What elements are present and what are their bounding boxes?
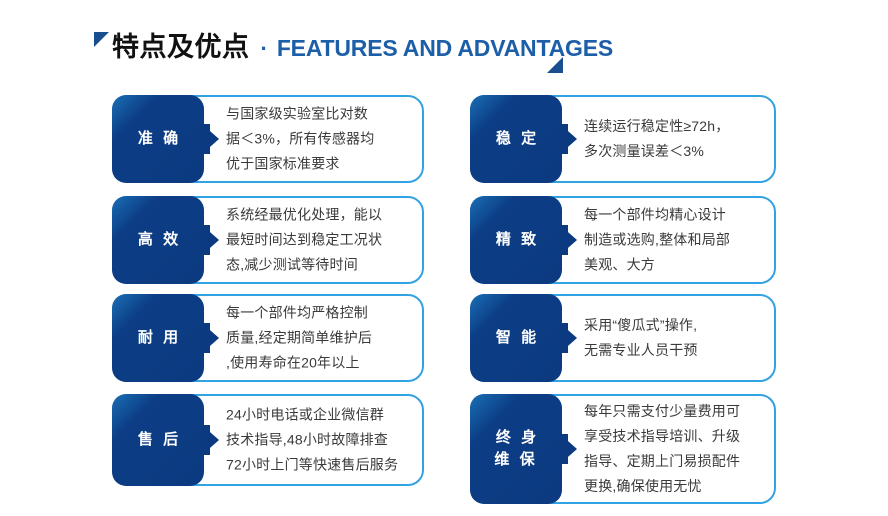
feature-card: 稳 定 连续运行稳定性≥72h， 多次测量误差＜3% xyxy=(470,95,776,183)
feature-card-arrow-icon xyxy=(560,434,577,464)
feature-card-label: 精 致 xyxy=(470,196,562,284)
page-title: 特点及优点 · FEATURES AND ADVANTAGES xyxy=(112,28,613,68)
page-title-separator: · xyxy=(261,30,268,68)
feature-card-body: 每一个部件均严格控制 质量,经定期简单维护后 ,使用寿命在20年以上 xyxy=(226,301,410,376)
feature-card-body: 采用“傻瓜式”操作, 无需专业人员干预 xyxy=(584,313,762,363)
feature-card: 终 身 维 保 每年只需支付少量费用可 享受技术指导培训、升级 指导、定期上门易… xyxy=(470,394,776,504)
page-title-block: 特点及优点 · FEATURES AND ADVANTAGES xyxy=(88,26,608,82)
feature-card-label-text: 售 后 xyxy=(135,429,181,451)
feature-card-label: 准 确 xyxy=(112,95,204,183)
feature-card-label: 稳 定 xyxy=(470,95,562,183)
feature-card-body: 与国家级实验室比对数 据＜3%，所有传感器均 优于国家标准要求 xyxy=(226,102,410,177)
feature-card-label: 终 身 维 保 xyxy=(470,394,562,504)
feature-card-label-text: 终 身 维 保 xyxy=(493,427,539,471)
feature-card: 高 效 系统经最优化处理，能以 最短时间达到稳定工况状 态,减少测试等待时间 xyxy=(112,196,424,284)
feature-card-label: 智 能 xyxy=(470,294,562,382)
feature-card: 准 确 与国家级实验室比对数 据＜3%，所有传感器均 优于国家标准要求 xyxy=(112,95,424,183)
feature-card: 精 致 每一个部件均精心设计 制造或选购,整体和局部 美观、大方 xyxy=(470,196,776,284)
feature-card-arrow-icon xyxy=(202,323,219,353)
feature-card-label-text: 稳 定 xyxy=(493,128,539,150)
feature-advantages-page: { "header": { "title_cn": "特点及优点", "sepa… xyxy=(0,0,888,516)
feature-card: 售 后 24小时电话或企业微信群 技术指导,48小时故障排查 72小时上门等快速… xyxy=(112,394,424,486)
feature-card-arrow-icon xyxy=(202,124,219,154)
feature-card-arrow-icon xyxy=(202,225,219,255)
feature-card-label: 高 效 xyxy=(112,196,204,284)
feature-card-label-text: 智 能 xyxy=(493,327,539,349)
feature-card-label-text: 耐 用 xyxy=(135,327,181,349)
page-title-chinese: 特点及优点 xyxy=(112,28,250,66)
feature-card-label-text: 准 确 xyxy=(135,128,181,150)
feature-card-body: 系统经最优化处理，能以 最短时间达到稳定工况状 态,减少测试等待时间 xyxy=(226,203,410,278)
page-title-english: FEATURES AND ADVANTAGES xyxy=(277,29,613,67)
feature-card-arrow-icon xyxy=(202,425,219,455)
feature-card: 智 能 采用“傻瓜式”操作, 无需专业人员干预 xyxy=(470,294,776,382)
feature-card-arrow-icon xyxy=(560,124,577,154)
feature-card: 耐 用 每一个部件均严格控制 质量,经定期简单维护后 ,使用寿命在20年以上 xyxy=(112,294,424,382)
feature-card-arrow-icon xyxy=(560,323,577,353)
feature-card-body: 每年只需支付少量费用可 享受技术指导培训、升级 指导、定期上门易损配件 更换,确… xyxy=(584,399,762,499)
feature-card-body: 连续运行稳定性≥72h， 多次测量误差＜3% xyxy=(584,114,762,164)
decorative-triangle-top-left-icon xyxy=(94,32,109,47)
feature-card-label-text: 精 致 xyxy=(493,229,539,251)
feature-card-label: 耐 用 xyxy=(112,294,204,382)
feature-card-label: 售 后 xyxy=(112,394,204,486)
feature-card-body: 24小时电话或企业微信群 技术指导,48小时故障排查 72小时上门等快速售后服务 xyxy=(226,403,410,478)
feature-card-arrow-icon xyxy=(560,225,577,255)
feature-card-body: 每一个部件均精心设计 制造或选购,整体和局部 美观、大方 xyxy=(584,203,762,278)
feature-card-label-text: 高 效 xyxy=(135,229,181,251)
